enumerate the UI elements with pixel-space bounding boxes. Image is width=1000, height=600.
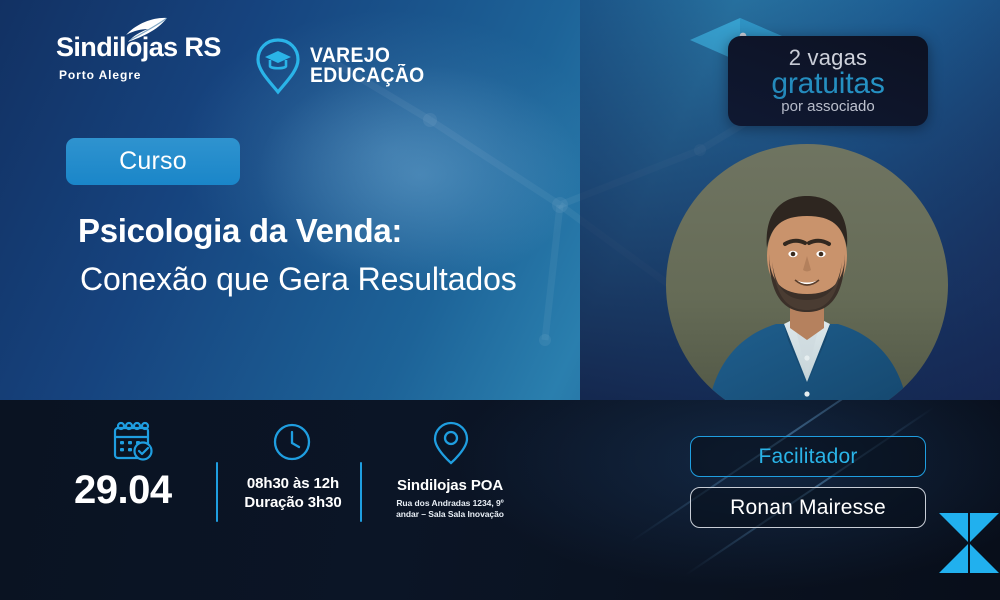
time-info: 08h30 às 12h Duração 3h30 [230, 474, 356, 512]
course-title-line-2: Conexão que Gera Resultados [80, 260, 698, 298]
facilitator-role-box: Facilitador [690, 436, 926, 477]
time-line-1: 08h30 às 12h [230, 474, 356, 493]
badge-panel: 2 vagas gratuitas por associado [728, 36, 928, 126]
free-slots-badge: 2 vagas gratuitas por associado [688, 14, 944, 126]
badge-line-2: gratuitas [771, 69, 884, 100]
course-title-line-1: Psicologia da Venda: [78, 212, 698, 251]
speaker-portrait [666, 144, 948, 426]
location-info: Sindilojas POA Rua dos Andradas 1234, 9º… [370, 476, 530, 520]
course-title: Psicologia da Venda: Conexão que Gera Re… [78, 212, 698, 298]
category-label: Curso [119, 147, 187, 176]
divider [216, 462, 218, 522]
varejo-line-1: VAREJO [310, 46, 425, 66]
varejo-educacao-logo: VAREJO EDUCAÇÃO [255, 37, 435, 95]
facilitator-name-box: Ronan Mairesse [690, 487, 926, 528]
time-line-2: Duração 3h30 [230, 493, 356, 512]
event-date: 29.04 [74, 468, 172, 513]
map-pin-icon [432, 420, 470, 466]
clock-icon [272, 422, 312, 462]
facilitator-role-label: Facilitador [758, 445, 857, 469]
map-pin-graduation-icon [255, 37, 301, 95]
pinwheel-icon [938, 512, 1000, 574]
badge-line-1: 2 vagas [789, 46, 867, 69]
sindilojas-logo: Sindilojas RS Porto Alegre [56, 34, 221, 82]
sindilojas-city: Porto Alegre [59, 68, 221, 82]
feather-icon [123, 17, 169, 43]
course-promo-banner: Sindilojas RS Porto Alegre VAREJO EDUCAÇ… [0, 0, 1000, 600]
location-address-line-2: andar – Sala Sala Inovação [370, 509, 530, 520]
divider [360, 462, 362, 522]
category-pill: Curso [66, 138, 240, 185]
varejo-line-2: EDUCAÇÃO [310, 66, 425, 86]
location-name: Sindilojas POA [370, 476, 530, 495]
graduation-cap-icon [688, 14, 798, 92]
calendar-check-icon [110, 420, 156, 466]
logo-group: Sindilojas RS Porto Alegre VAREJO EDUCAÇ… [56, 34, 434, 95]
badge-line-3: por associado [781, 99, 874, 116]
location-address-line-1: Rua dos Andradas 1234, 9º [370, 498, 530, 509]
facilitator-name: Ronan Mairesse [730, 496, 886, 520]
